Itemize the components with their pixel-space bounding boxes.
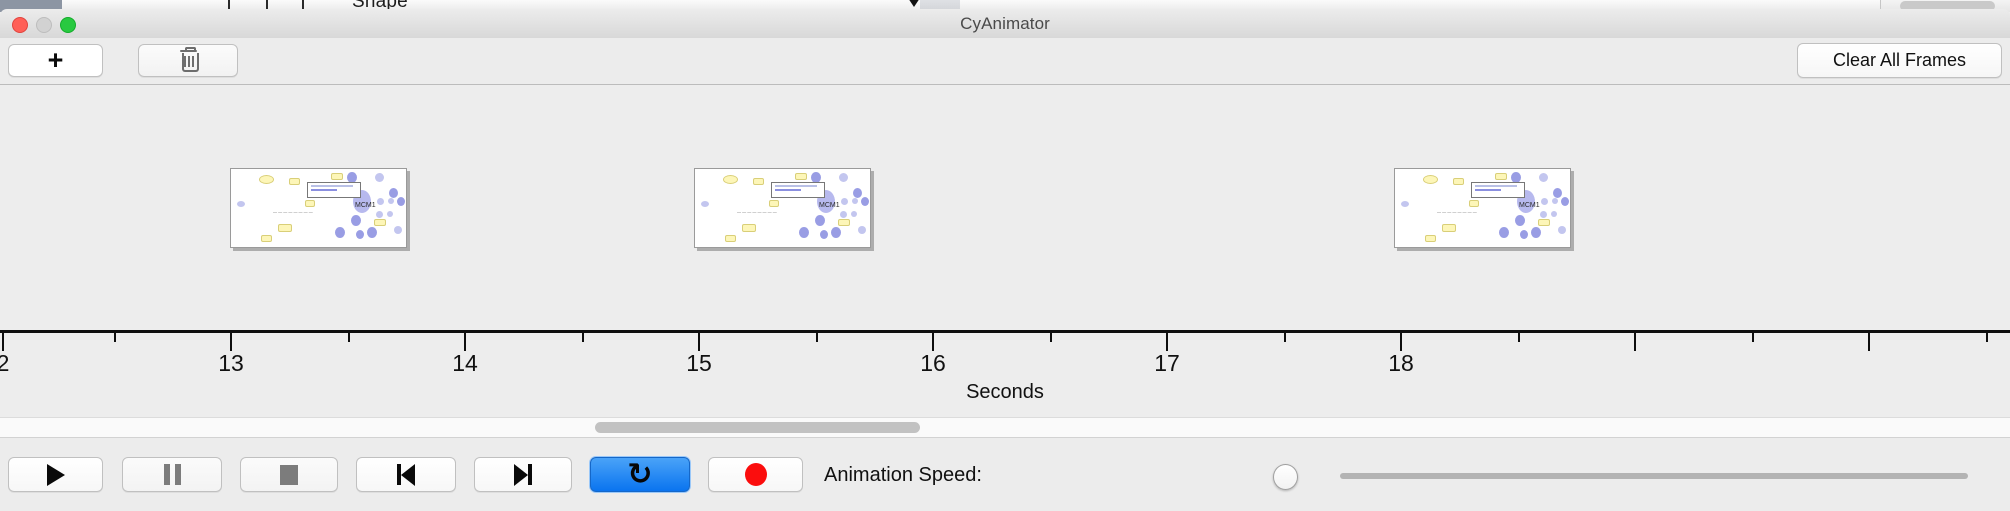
skip-back-icon (397, 464, 415, 486)
axis-tick-minor (1518, 333, 1520, 342)
clear-all-frames-label: Clear All Frames (1833, 50, 1966, 71)
play-button[interactable] (8, 457, 103, 492)
playback-control-bar: ↻ Animation Speed: (0, 437, 2010, 511)
frame-thumbnail-2[interactable]: — — — — — — — — MCM1 (694, 168, 871, 248)
cyanimator-window: Shape CyAnimator + Clear All Frames (0, 0, 2010, 510)
axis-tick-label: 13 (218, 350, 244, 377)
axis-tick-major (1868, 333, 1870, 351)
axis-tick-minor (1752, 333, 1754, 342)
frame-thumbnail-3[interactable]: — — — — — — — — MCM1 (1394, 168, 1571, 248)
stop-button[interactable] (240, 457, 338, 492)
record-icon (745, 463, 767, 486)
loop-button[interactable]: ↻ (590, 457, 690, 492)
trash-icon (180, 50, 197, 71)
axis-tick-label: 2 (0, 350, 9, 377)
scrollbar-thumb[interactable] (595, 422, 920, 433)
skip-forward-icon (514, 464, 532, 486)
axis-tick-major (1166, 333, 1168, 351)
network-thumbnail-graphic: — — — — — — — — MCM1 (1395, 169, 1570, 247)
play-icon (47, 464, 65, 486)
network-thumbnail-graphic: — — — — — — — — MCM1 (695, 169, 870, 247)
timeline-panel[interactable]: — — — — — — — — MCM1 (0, 85, 2010, 417)
axis-tick-major (230, 333, 232, 351)
skip-to-end-button[interactable] (474, 457, 572, 492)
axis-tick-minor (816, 333, 818, 342)
pause-button[interactable] (122, 457, 222, 492)
axis-tick-major (1400, 333, 1402, 351)
axis-tick-major (464, 333, 466, 351)
title-bar: CyAnimator (0, 9, 2010, 39)
animation-speed-slider-thumb[interactable] (1273, 464, 1298, 490)
axis-title: Seconds (0, 381, 2010, 404)
axis-tick-label: 16 (920, 350, 946, 377)
axis-tick-minor (582, 333, 584, 342)
add-frame-button[interactable]: + (8, 44, 103, 77)
axis-tick-major (698, 333, 700, 351)
axis-tick-label: 17 (1154, 350, 1180, 377)
axis-tick-label: 18 (1388, 350, 1414, 377)
axis-tick-minor (114, 333, 116, 342)
record-button[interactable] (708, 457, 803, 492)
axis-tick-minor (1284, 333, 1286, 342)
window-title: CyAnimator (0, 9, 2010, 38)
axis-tick-minor (1050, 333, 1052, 342)
frame-thumbnail-1[interactable]: — — — — — — — — MCM1 (230, 168, 407, 248)
clear-all-frames-button[interactable]: Clear All Frames (1797, 43, 2002, 78)
axis-tick-major (1634, 333, 1636, 351)
axis-tick-major (932, 333, 934, 351)
axis-tick-major (2, 333, 4, 351)
axis-tick-label: 15 (686, 350, 712, 377)
animation-speed-slider-track[interactable] (1340, 473, 1968, 479)
skip-to-start-button[interactable] (356, 457, 456, 492)
axis-tick-label: 14 (452, 350, 478, 377)
delete-frame-button[interactable] (138, 44, 238, 77)
axis-tick-minor (348, 333, 350, 342)
timeline-horizontal-scrollbar[interactable] (0, 417, 2010, 438)
network-thumbnail-graphic: — — — — — — — — MCM1 (231, 169, 406, 247)
pause-icon (164, 464, 181, 485)
timeline-axis-line (0, 330, 2010, 333)
stop-icon (280, 465, 298, 485)
axis-tick-minor (1986, 333, 1988, 342)
frame-toolbar: + Clear All Frames (0, 38, 2010, 85)
plus-icon: + (48, 47, 64, 74)
loop-icon: ↻ (627, 460, 652, 490)
animation-speed-label: Animation Speed: (824, 464, 982, 487)
